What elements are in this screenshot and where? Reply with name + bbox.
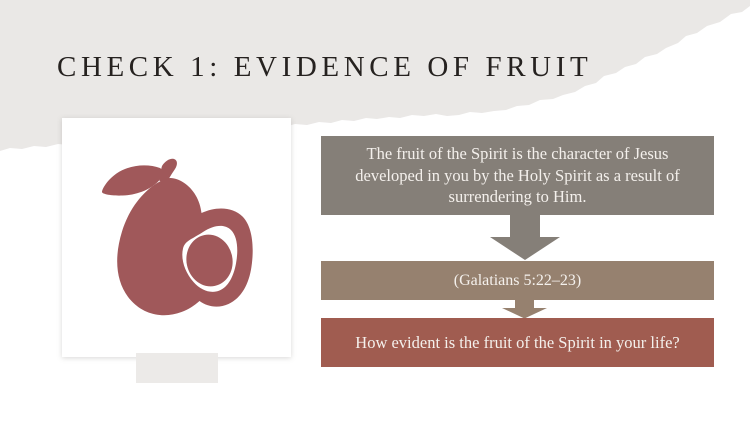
page-title: CHECK 1: EVIDENCE OF FRUIT xyxy=(57,51,677,84)
decorative-strip xyxy=(136,353,218,383)
statement-box: The fruit of the Spirit is the character… xyxy=(321,136,714,215)
scripture-reference-box: (Galatians 5:22–23) xyxy=(321,261,714,300)
avocado-icon xyxy=(89,145,264,330)
question-box: How evident is the fruit of the Spirit i… xyxy=(321,318,714,367)
down-arrow-icon xyxy=(487,215,563,266)
avocado-illustration-card xyxy=(62,118,291,357)
slide-canvas: CHECK 1: EVIDENCE OF FRUIT The fruit of … xyxy=(0,0,750,421)
